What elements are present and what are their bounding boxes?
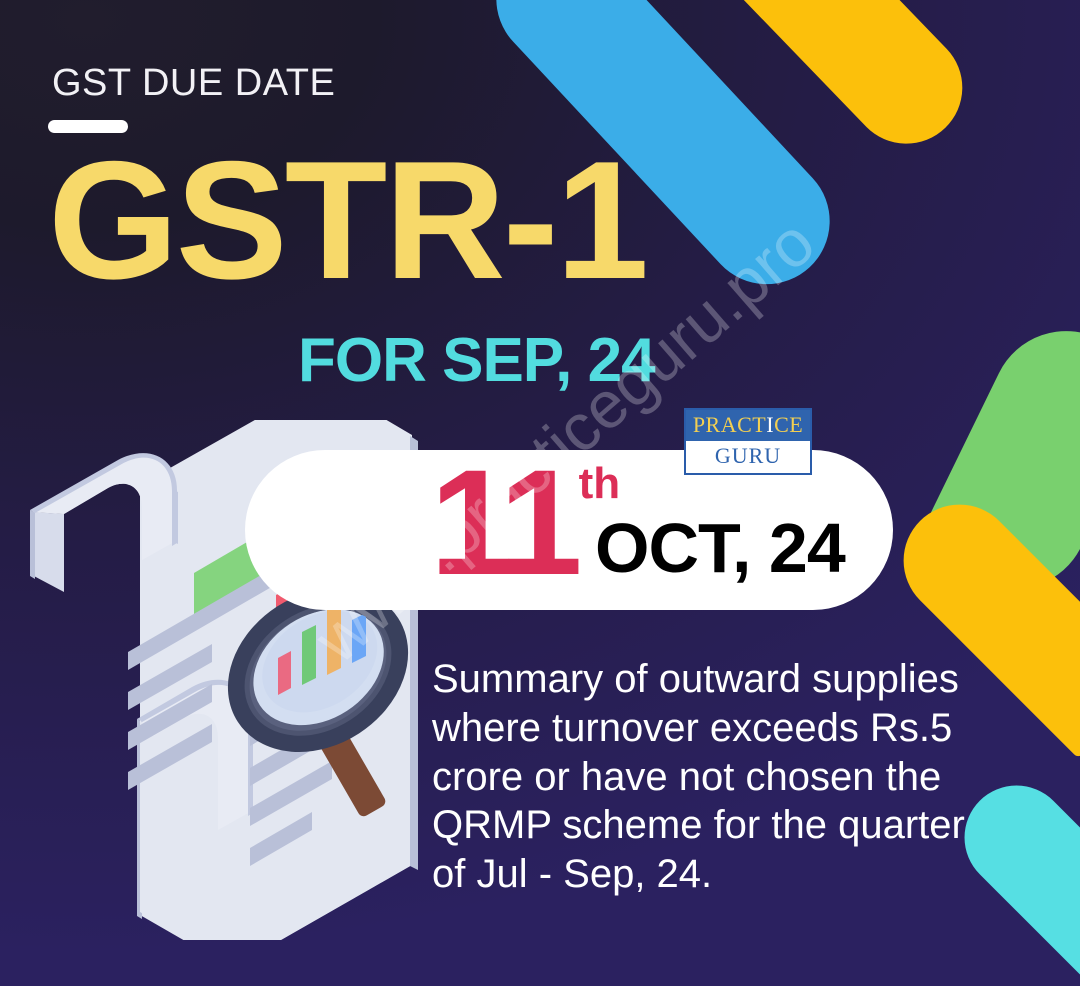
kicker-label: GST DUE DATE — [52, 62, 335, 105]
due-day-number: 11 — [430, 447, 577, 597]
brand-logo-line1: PRACTICE — [686, 410, 810, 441]
poster-canvas: GST DUE DATE GSTR-1 FOR SEP, 24 — [0, 0, 1080, 986]
page-title: GSTR-1 — [48, 141, 646, 301]
brand-logo-practice-part1: PRACT — [693, 412, 766, 437]
description-text: Summary of outward supplies where turnov… — [432, 655, 992, 899]
subtitle-period: FOR SEP, 24 — [298, 325, 655, 396]
brand-logo-practice-part2: CE — [774, 412, 803, 437]
brand-logo-separator: I — [766, 412, 774, 437]
brand-logo-line2: GURU — [686, 441, 810, 473]
brand-logo: PRACTICE GURU — [684, 408, 812, 475]
due-day-ordinal: th — [579, 459, 621, 509]
due-month-year: OCT, 24 — [595, 508, 845, 588]
due-day-group: 11 th — [430, 447, 620, 597]
